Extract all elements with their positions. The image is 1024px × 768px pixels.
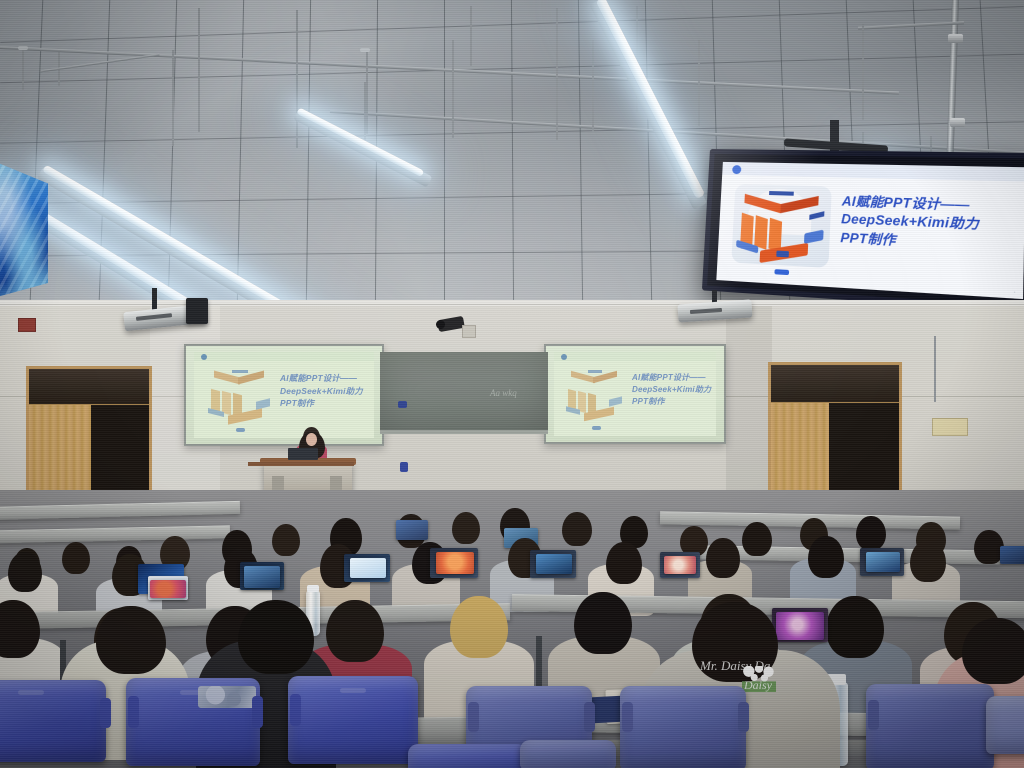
chair-arm-tab [100, 698, 111, 728]
desk-row-far [0, 501, 240, 520]
chalkboard-magnet [400, 462, 408, 472]
ceiling-speaker-left [186, 298, 208, 324]
student-laptop[interactable] [150, 580, 186, 598]
chair-arm-tab [128, 696, 139, 728]
student-laptop[interactable] [776, 612, 824, 640]
student-head [272, 524, 300, 556]
hanger-rod [556, 8, 558, 140]
student-laptop[interactable] [536, 554, 572, 574]
student-head [808, 536, 844, 578]
chair-stacked[interactable] [986, 696, 1024, 754]
presenter-face [306, 433, 317, 446]
hanger-rod [366, 50, 368, 134]
student-laptop[interactable] [664, 556, 696, 574]
lectern-laptop[interactable] [288, 448, 318, 460]
hanger-rod [470, 6, 472, 66]
door-right[interactable] [768, 362, 902, 510]
hanger-rod [592, 40, 594, 132]
foreground-student-head [96, 606, 166, 674]
student-head [706, 538, 740, 578]
slide-illustration [206, 370, 274, 426]
chalkboard-writing: Aa wkq [490, 388, 517, 398]
projection-screen-right: AI赋能PPT设计——DeepSeek+Kimi助力PPT制作 [544, 344, 726, 444]
projection-screen-left: AI赋能PPT设计——DeepSeek+Kimi助力PPT制作 [184, 344, 384, 446]
slide-accent-tab [592, 426, 601, 430]
pipe-joint [950, 118, 965, 127]
lecture-hall-photo: AI赋能PPT设计——DeepSeek+Kimi助力PPT制作 · [0, 0, 1024, 768]
audience-seating: Mr. Daisy Da Daisy [0, 490, 1024, 768]
camera-lens-icon [436, 320, 445, 329]
projector-arm-left [152, 288, 157, 310]
hoodie-flower-graphic [742, 666, 776, 692]
tv-main-display[interactable]: AI赋能PPT设计——DeepSeek+Kimi助力PPT制作 · [702, 149, 1024, 313]
chair-foreground-partial[interactable] [408, 744, 528, 768]
foreground-student-head [238, 600, 314, 674]
desk-row-far [0, 525, 230, 543]
hanger-rod [296, 10, 298, 148]
lectern-panel-left [272, 476, 284, 490]
slide-illustration [564, 370, 626, 424]
chair-sticker [198, 686, 256, 708]
chair-grip-slot [340, 688, 366, 693]
slide-title-text: AI赋能PPT设计——DeepSeek+Kimi助力PPT制作 [280, 372, 372, 410]
chair-arm-tab [868, 700, 879, 730]
student-head [742, 522, 772, 556]
student-laptop[interactable] [244, 566, 280, 588]
door-left[interactable] [26, 366, 152, 506]
hanger-cap [18, 46, 28, 50]
student-laptop[interactable] [350, 558, 386, 578]
chair-grip-slot [18, 690, 44, 695]
slide-projection-left: AI赋能PPT设计——DeepSeek+Kimi助力PPT制作 [194, 352, 374, 438]
tv-bezel [702, 149, 1024, 313]
pipe-joint [948, 34, 963, 43]
student-laptop[interactable] [866, 552, 900, 572]
hanger-cap [360, 48, 370, 52]
hanger-rod [22, 48, 24, 90]
student-laptop[interactable] [1000, 546, 1024, 564]
chair-arm-tab [622, 702, 633, 732]
student-head [910, 540, 946, 582]
student-head [326, 600, 384, 662]
door-transom [29, 369, 149, 406]
student-head [450, 596, 508, 658]
lectern-panel-right [330, 476, 342, 490]
lectern-side-table [248, 462, 354, 466]
student-head [606, 542, 642, 584]
door-panel [29, 405, 91, 503]
student-head [62, 542, 90, 574]
hanger-rod [698, 40, 700, 126]
slide-logo-dot [561, 354, 567, 360]
wall-switch-box [18, 318, 36, 332]
chair-foreground[interactable] [0, 680, 106, 762]
foreground-student-head [962, 618, 1024, 684]
chair-arm-tab [290, 694, 301, 726]
student-head [826, 596, 884, 658]
hanger-rod [452, 40, 454, 138]
pipe-dropper [862, 24, 864, 120]
bottle-cap [307, 585, 319, 592]
student-head [856, 516, 886, 550]
chair-arm-tab [468, 702, 479, 732]
student-laptop[interactable] [436, 552, 474, 574]
wall-notice [932, 418, 968, 436]
wall-mount-plate [462, 325, 476, 338]
chair-foreground[interactable] [866, 684, 994, 768]
slide-header-bar [554, 352, 716, 361]
student-head [562, 512, 592, 546]
slide-header-bar [194, 352, 374, 361]
chair-arm-tab [584, 702, 595, 732]
chalkboard-magnet [398, 401, 407, 408]
chair-arm-tab [738, 702, 749, 732]
chalkboard [380, 352, 548, 434]
slide-title-text: AI赋能PPT设计——DeepSeek+Kimi助力PPT制作 [632, 372, 716, 408]
chair-foreground-partial[interactable] [520, 740, 616, 768]
chair-arm-tab [252, 696, 263, 728]
door-transom [771, 365, 899, 404]
hanger-rod [198, 8, 200, 132]
slide-accent-tab [236, 428, 245, 432]
hanger-rod [172, 50, 174, 146]
slide-logo-dot [201, 354, 207, 360]
student-head [452, 512, 480, 544]
chair-foreground[interactable] [620, 686, 746, 768]
slide-projection-right: AI赋能PPT设计——DeepSeek+Kimi助力PPT制作 [554, 352, 716, 436]
student-laptop[interactable] [396, 520, 428, 540]
student-head [574, 592, 632, 654]
student-head [8, 552, 42, 592]
wall-conduit [934, 336, 936, 402]
door-opening [91, 405, 149, 503]
